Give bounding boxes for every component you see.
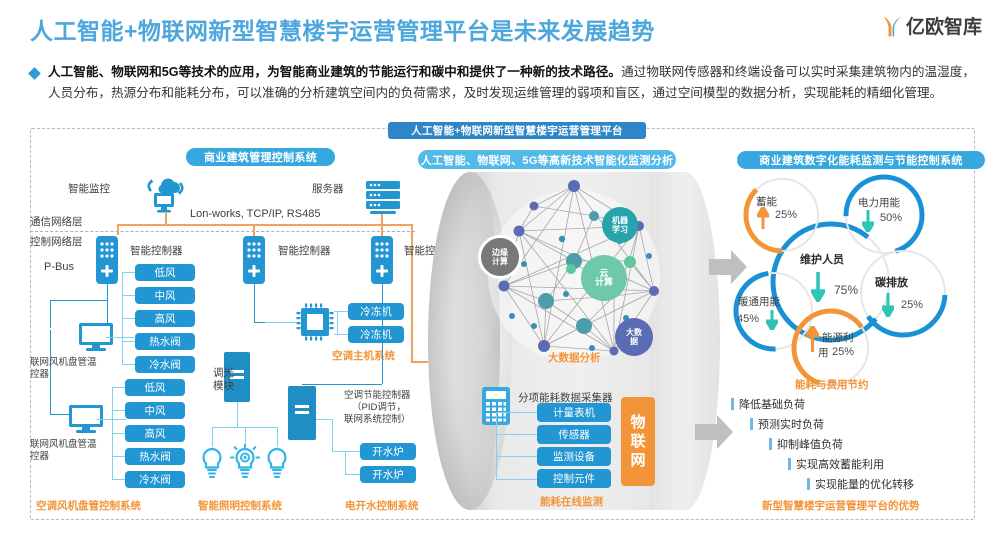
label-smart-monitor: 智能监控 xyxy=(68,183,110,196)
boiler-from-cabinet xyxy=(316,419,332,420)
metric-value-hvac: 45% xyxy=(737,313,759,325)
caption-bigdata-analysis: 大数据分析 xyxy=(548,350,601,365)
caption-chiller-system: 空调主机系统 xyxy=(332,348,395,363)
label-thermostat-1-line2: 控器 xyxy=(30,368,49,381)
diamond-bullet-icon xyxy=(28,67,41,80)
pill-fan2-4[interactable]: 冷水阀 xyxy=(125,471,185,488)
label-hvac-ctrl-l3: 联网系统控制） xyxy=(344,413,411,426)
label-pbus: P-Bus xyxy=(44,261,74,274)
metric-value-carbon: 25% xyxy=(901,299,923,311)
bulb-1-icon xyxy=(200,447,224,484)
arrow-to-right-bottom xyxy=(695,415,733,454)
banner-platform: 人工智能+物联网新型智慧楼宇运营管理平台 xyxy=(388,122,646,139)
node-bigdata-line2: 据 xyxy=(630,337,638,346)
cascade-item-3: 实现高效蓄能利用 xyxy=(796,456,884,472)
metric-name-power: 电力用能 xyxy=(858,195,900,210)
label-server: 服务器 xyxy=(312,183,344,196)
ctrl3-drop xyxy=(382,284,383,384)
lead-bold-text: 人工智能、物联网和5G等技术的应用，为智能商业建筑的节能运行和碳中和提供了一种新… xyxy=(48,65,621,79)
chip-icon xyxy=(296,303,334,346)
boiler-spine xyxy=(332,419,333,451)
page-title: 人工智能+物联网新型智慧楼宇运营管理平台是未来发展趋势 xyxy=(30,12,655,46)
caption-lighting-system: 智能照明控制系统 xyxy=(198,498,282,513)
thermo1-link xyxy=(106,337,136,338)
pill-device-3[interactable]: 控制元件 xyxy=(537,469,611,488)
orange-bus-line xyxy=(117,224,412,226)
pill-boiler-1[interactable]: 开水炉 xyxy=(360,466,416,483)
pill-fan2-2[interactable]: 高风 xyxy=(125,425,185,442)
tree1-b2 xyxy=(122,318,135,319)
ctrl1-branch-b-v xyxy=(50,330,51,414)
banner-right-system: 商业建筑数字化能耗监测与节能控制系统 xyxy=(737,151,985,169)
ctrl3-h xyxy=(302,384,382,385)
metric-name-carbon: 碳排放 xyxy=(875,274,908,290)
pill-device-2[interactable]: 监测设备 xyxy=(537,447,611,466)
tree1-b3 xyxy=(122,341,135,342)
boiler-v2 xyxy=(345,451,346,474)
orange-drop-c1 xyxy=(117,224,119,235)
metric-name-hvac: 暖通用能 xyxy=(738,294,780,309)
pill-fan1-1[interactable]: 中风 xyxy=(135,287,195,304)
ctrl1-branch-a-v xyxy=(50,300,51,328)
chip-link xyxy=(265,322,296,323)
chiller-b0 xyxy=(334,311,348,312)
node-edge-computing: 边缘 计算 xyxy=(478,235,522,279)
pill-fan2-0[interactable]: 低风 xyxy=(125,379,185,396)
arrow-up-storage-icon xyxy=(757,207,769,234)
iot-label-box: 物 联 网 xyxy=(621,397,655,486)
caption-boiler-system: 电开水控制系统 xyxy=(345,498,419,513)
thermostat-monitor-2-icon xyxy=(66,404,106,439)
hvac-cabinet-icon xyxy=(288,386,316,445)
label-dimmer-l2: 模块 xyxy=(213,380,234,393)
tree2-b2 xyxy=(112,433,125,434)
pill-device-1[interactable]: 传感器 xyxy=(537,425,611,444)
pill-fan1-4[interactable]: 冷水阀 xyxy=(135,356,195,373)
controller-module-3-icon xyxy=(371,236,393,289)
metric-name-energy-l2: 用 xyxy=(818,345,829,360)
server-icon xyxy=(364,179,404,222)
pill-fan1-3[interactable]: 热水阀 xyxy=(135,333,195,350)
banner-center-system: 人工智能、物联网、5G等高新技术智能化监测分析 xyxy=(418,150,676,169)
caption-platform-advantage: 新型智慧楼宇运营管理平台的优势 xyxy=(762,498,920,513)
dimmer-to-bulbs xyxy=(237,402,238,427)
label-controller-1: 智能控制器 xyxy=(130,245,183,258)
yiou-logo-icon xyxy=(881,14,903,38)
boiler-b0 xyxy=(332,451,360,452)
pill-chiller-1[interactable]: 冷冻机 xyxy=(348,326,404,343)
controller-module-1-icon xyxy=(96,236,118,289)
metric-name-energy-l1: 能源利 xyxy=(822,330,854,345)
slide-root: 人工智能+物联网新型智慧楼宇运营管理平台是未来发展趋势 亿欧智库 人工智能、物联… xyxy=(0,0,1000,556)
bulb-drop-2 xyxy=(245,427,246,444)
tree2-b4 xyxy=(112,479,125,480)
iot-char-1: 联 xyxy=(630,432,645,451)
node-ml-line1: 机器 xyxy=(612,216,628,225)
node-cloud-computing: 云 计算 xyxy=(581,255,627,301)
node-edge-line2: 计算 xyxy=(492,257,508,266)
boiler-b1 xyxy=(345,474,360,475)
controller-module-2-icon xyxy=(243,236,265,289)
lead-paragraph: 人工智能、物联网和5G等技术的应用，为智能商业建筑的节能运行和碳中和提供了一种新… xyxy=(30,62,975,104)
arrow-down-power-icon xyxy=(862,210,874,237)
tree2-b1 xyxy=(112,410,125,411)
chiller-b1 xyxy=(334,334,348,335)
iot-char-0: 物 xyxy=(630,413,645,432)
pill-fan2-1[interactable]: 中风 xyxy=(125,402,185,419)
pill-fan1-2[interactable]: 高风 xyxy=(135,310,195,327)
metric-value-power: 50% xyxy=(880,212,902,224)
device-b2 xyxy=(496,456,537,457)
caption-cost-saving: 能耗与费用节约 xyxy=(795,377,869,392)
label-control-layer: 控制网络层 xyxy=(30,236,83,249)
bulb-3-icon xyxy=(265,447,289,484)
caption-energy-monitor: 能耗在线监测 xyxy=(540,494,603,509)
cascade-bar-1 xyxy=(750,418,753,430)
cascade-bar-2 xyxy=(769,438,772,450)
orange-drop-monitor xyxy=(165,213,167,225)
tree1-b0 xyxy=(122,272,135,273)
metric-value-storage: 25% xyxy=(775,209,797,221)
pill-chiller-0[interactable]: 冷冻机 xyxy=(348,303,404,320)
label-comm-layer: 通信网络层 xyxy=(30,216,83,229)
label-controller-2: 智能控制器 xyxy=(278,245,331,258)
cascade-item-4: 实现能量的优化转移 xyxy=(815,476,914,492)
bulb-drop-3 xyxy=(277,427,278,447)
tree1-b4 xyxy=(122,364,135,365)
logo-text: 亿欧智库 xyxy=(906,12,982,39)
bulb-drop-1 xyxy=(212,427,213,447)
metric-value-maintenance: 75% xyxy=(834,283,858,297)
arrow-down-carbon-icon xyxy=(882,293,894,322)
ctrl2-drop xyxy=(254,284,255,322)
node-machine-learning: 机器 学习 xyxy=(602,207,638,243)
tree2-b3 xyxy=(112,456,125,457)
chiller-spine xyxy=(337,311,338,334)
tree1-b1 xyxy=(122,295,135,296)
device-spine xyxy=(496,412,497,479)
device-b3 xyxy=(496,479,537,480)
arrow-down-hvac-icon xyxy=(766,310,778,335)
pill-fan1-0[interactable]: 低风 xyxy=(135,264,195,281)
orange-drop-c3 xyxy=(381,224,383,236)
cascade-bar-4 xyxy=(807,478,810,490)
iot-char-2: 网 xyxy=(630,451,645,470)
label-dimmer-l1: 调光 xyxy=(213,367,234,380)
device-b1 xyxy=(496,434,537,435)
tree2-b0 xyxy=(112,387,125,388)
pill-boiler-0[interactable]: 开水炉 xyxy=(360,443,416,460)
thermo2-link xyxy=(96,419,126,420)
banner-left-system: 商业建筑管理控制系统 xyxy=(186,148,335,166)
ctrl1-drop xyxy=(107,284,108,324)
node-edge-line1: 边缘 xyxy=(492,248,508,257)
cascade-item-2: 抑制峰值负荷 xyxy=(777,436,843,452)
cascade-item-0: 降低基础负荷 xyxy=(739,396,805,412)
thermostat-monitor-1-icon xyxy=(76,322,116,357)
ctrl1-branch-a xyxy=(50,300,107,301)
cascade-bar-3 xyxy=(788,458,791,470)
node-bigdata-line1: 大数 xyxy=(626,328,642,337)
device-b0 xyxy=(496,412,537,413)
label-protocols: Lon-works, TCP/IP, RS485 xyxy=(190,208,320,221)
layer-divider xyxy=(30,231,415,232)
node-ml-line2: 学习 xyxy=(612,225,628,234)
label-thermostat-2-line2: 控器 xyxy=(30,450,49,463)
caption-fcu-system: 空调风机盘管控制系统 xyxy=(36,498,141,513)
cascade-bar-0 xyxy=(731,398,734,410)
orange-drop-c2 xyxy=(253,224,255,236)
bulb-2-active-icon xyxy=(230,444,260,485)
metric-value-energy: 25% xyxy=(832,346,854,358)
node-cloud-line2: 计算 xyxy=(595,278,613,287)
pill-fan2-3[interactable]: 热水阀 xyxy=(125,448,185,465)
ctrl2-h xyxy=(254,322,265,323)
node-big-data: 大数 据 xyxy=(615,318,653,356)
cascade-item-1: 预测实时负荷 xyxy=(758,416,824,432)
brand-logo: 亿欧智库 xyxy=(881,12,982,39)
pill-device-0[interactable]: 计量表机 xyxy=(537,403,611,422)
